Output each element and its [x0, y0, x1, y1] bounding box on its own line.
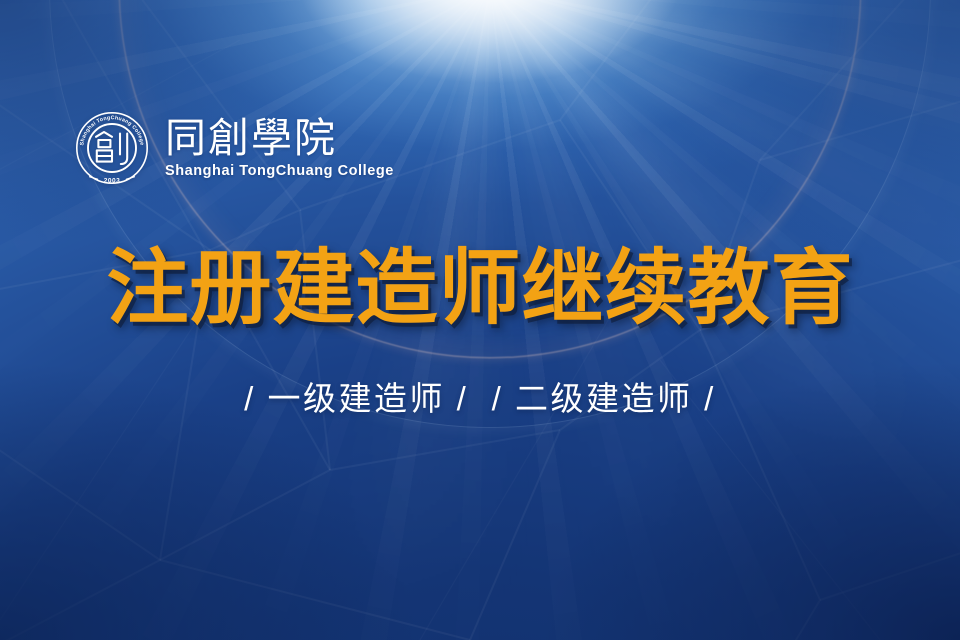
brand-wordmark: 同創學院 Shanghai TongChuang College	[165, 117, 394, 179]
banner-content: Shanghai TongChuang College 2003	[0, 0, 960, 640]
brand-name-en: Shanghai TongChuang College	[165, 163, 394, 179]
brand-name-cn: 同創學院	[165, 117, 337, 160]
svg-text:2003: 2003	[104, 177, 120, 184]
page-subtitle: / 一级建造师 / / 二级建造师 /	[0, 381, 960, 417]
page-title: 注册建造师继续教育	[0, 248, 960, 330]
brand-logo: Shanghai TongChuang College 2003	[72, 108, 394, 188]
promo-banner: Shanghai TongChuang College 2003	[0, 0, 960, 640]
college-seal-icon: Shanghai TongChuang College 2003	[72, 108, 152, 188]
